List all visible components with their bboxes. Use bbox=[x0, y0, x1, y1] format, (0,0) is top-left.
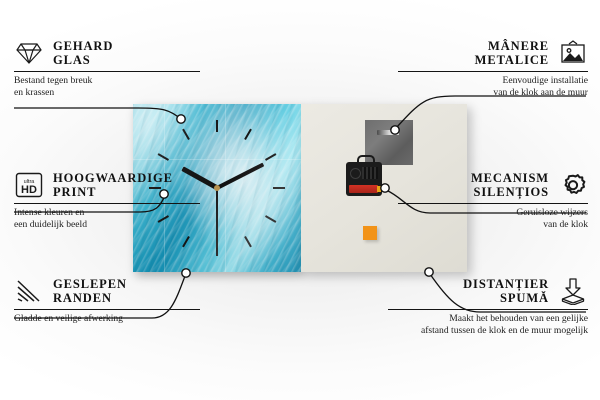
feature-title: GEHARD GLAS bbox=[53, 39, 113, 67]
clock-hands-cap bbox=[214, 185, 220, 191]
beveled-edges-icon bbox=[14, 276, 44, 306]
feature-title: DISTANȚIER SPUMĂ bbox=[463, 277, 549, 305]
battery-positive-terminal bbox=[377, 186, 381, 192]
feature-divider bbox=[398, 203, 588, 204]
hour-tick bbox=[182, 236, 190, 247]
foam-spacer bbox=[363, 226, 377, 240]
ultra-hd-big-label: HD bbox=[21, 184, 37, 196]
hour-tick bbox=[265, 153, 276, 161]
hour-tick bbox=[244, 236, 252, 247]
ultra-hd-icon: ultra HD bbox=[14, 170, 44, 200]
hour-tick bbox=[158, 153, 169, 161]
hour-tick bbox=[182, 129, 190, 140]
arrow-down-pad-icon bbox=[558, 276, 588, 306]
clock-mechanism-box bbox=[346, 162, 382, 196]
mechanism-setting-dial bbox=[350, 168, 361, 179]
feature-divider bbox=[398, 71, 588, 72]
feature-description: Eenvoudige installatie van de klok aan d… bbox=[398, 75, 588, 98]
feature-manere-metalice: MÂNERE METALICE Eenvoudige installatie v… bbox=[398, 38, 588, 98]
battery bbox=[349, 185, 378, 193]
feature-divider bbox=[388, 309, 588, 310]
feature-description: Intense kleuren en een duidelijk beeld bbox=[14, 207, 200, 230]
feature-divider bbox=[14, 309, 200, 310]
clock-second-hand bbox=[216, 188, 218, 248]
picture-frame-hanger-icon bbox=[558, 38, 588, 68]
feature-mecanism-silentios: MECANISM SILENȚIOS Geruisloze wijzers va… bbox=[398, 170, 588, 230]
feature-description: Gladde en veilige afwerking bbox=[14, 313, 200, 325]
feature-divider bbox=[14, 203, 200, 204]
hour-tick bbox=[265, 215, 276, 223]
hour-tick bbox=[216, 120, 218, 132]
feature-title: HOOGWAARDIGE PRINT bbox=[53, 171, 173, 199]
hanger-slot bbox=[377, 130, 399, 135]
feature-distantier-spuma: DISTANȚIER SPUMĂ Maakt het behouden van … bbox=[388, 276, 588, 336]
feature-description: Maakt het behouden van een gelijke afsta… bbox=[388, 313, 588, 336]
hour-tick bbox=[273, 187, 285, 189]
product-infographic: GEHARD GLAS Bestand tegen breuk en krass… bbox=[0, 0, 600, 400]
feature-divider bbox=[14, 71, 200, 72]
feature-gehard-glas: GEHARD GLAS Bestand tegen breuk en krass… bbox=[14, 38, 200, 98]
clock-minute-hand bbox=[216, 163, 264, 190]
mechanism-hang-loop bbox=[357, 155, 375, 166]
feature-hoogwaardige-print: ultra HD HOOGWAARDIGE PRINT Intense kleu… bbox=[14, 170, 200, 230]
feature-description: Bestand tegen breuk en krassen bbox=[14, 75, 200, 98]
gear-icon bbox=[558, 170, 588, 200]
feature-geslepen-randen: GESLEPEN RANDEN Gladde en veilige afwerk… bbox=[14, 276, 200, 325]
diamond-icon bbox=[14, 38, 44, 68]
hour-tick bbox=[244, 129, 252, 140]
feature-title: MECANISM SILENȚIOS bbox=[471, 171, 549, 199]
mechanism-vents bbox=[362, 167, 378, 179]
feature-title: GESLEPEN RANDEN bbox=[53, 277, 127, 305]
feature-title: MÂNERE METALICE bbox=[475, 39, 549, 67]
feature-description: Geruisloze wijzers van de klok bbox=[398, 207, 588, 230]
